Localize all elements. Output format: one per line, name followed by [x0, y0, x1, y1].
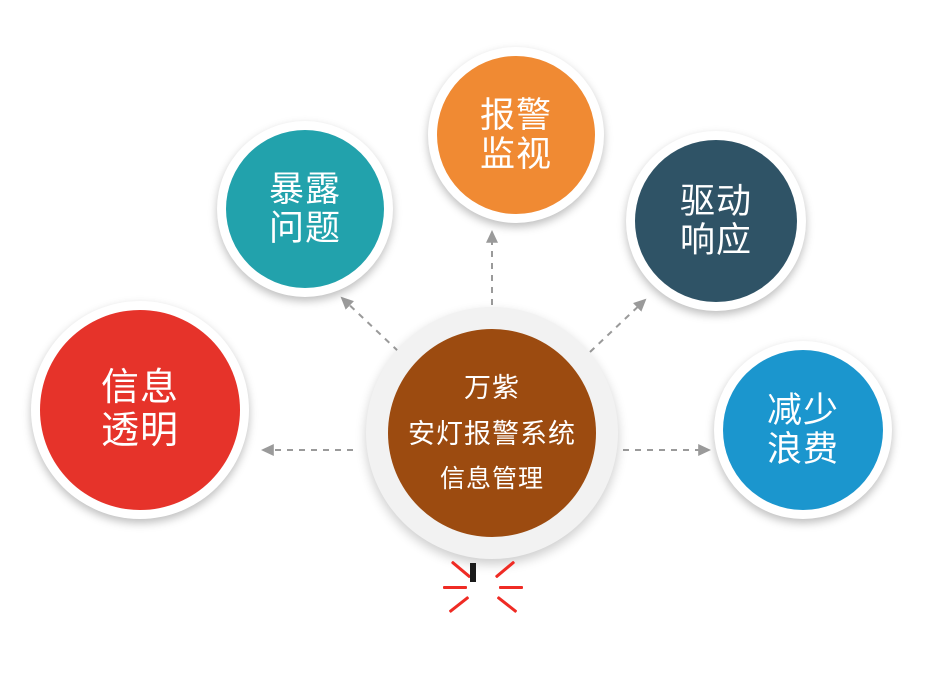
andon-light-tower-icon: [443, 546, 523, 648]
node-label-drive-response: 驱动 响应: [680, 182, 752, 260]
node-drive-response[interactable]: 驱动 响应: [626, 131, 806, 311]
node-label-alarm-monitor: 报警 监视: [480, 96, 552, 174]
node-label-info-transparent: 信息 透明: [101, 367, 179, 452]
node-alarm-monitor[interactable]: 报警 监视: [428, 47, 604, 223]
green-lamp: [474, 563, 476, 582]
ray-mid-left: [443, 586, 467, 589]
node-info-transparent[interactable]: 信息 透明: [31, 301, 249, 519]
ray-upper-right: [495, 561, 515, 579]
center-node-label: 万紫 安灯报警系统 信息管理: [408, 373, 576, 493]
center-label-line-3: 信息管理: [408, 465, 576, 493]
center-node[interactable]: 万紫 安灯报警系统 信息管理: [366, 307, 618, 559]
connector-center-to-drive-response: [590, 300, 645, 352]
node-expose-problem[interactable]: 暴露 问题: [217, 121, 393, 297]
node-label-expose-problem: 暴露 问题: [269, 170, 341, 248]
node-label-reduce-waste: 减少 浪费: [767, 391, 839, 469]
lamp-stack: [470, 564, 496, 646]
ray-upper-left: [451, 561, 471, 579]
ray-lower-left: [449, 596, 470, 613]
diagram-canvas: 报警 监视 暴露 问题 驱动 响应 信息 透明 减少 浪费 万紫 安灯报警系统 …: [0, 0, 939, 680]
connector-center-to-expose-problem: [342, 298, 398, 351]
ray-lower-right: [497, 596, 518, 613]
center-label-line-2: 安灯报警系统: [408, 419, 576, 449]
center-label-line-1: 万紫: [408, 373, 576, 403]
node-reduce-waste[interactable]: 减少 浪费: [714, 341, 892, 519]
ray-mid-right: [499, 586, 523, 589]
